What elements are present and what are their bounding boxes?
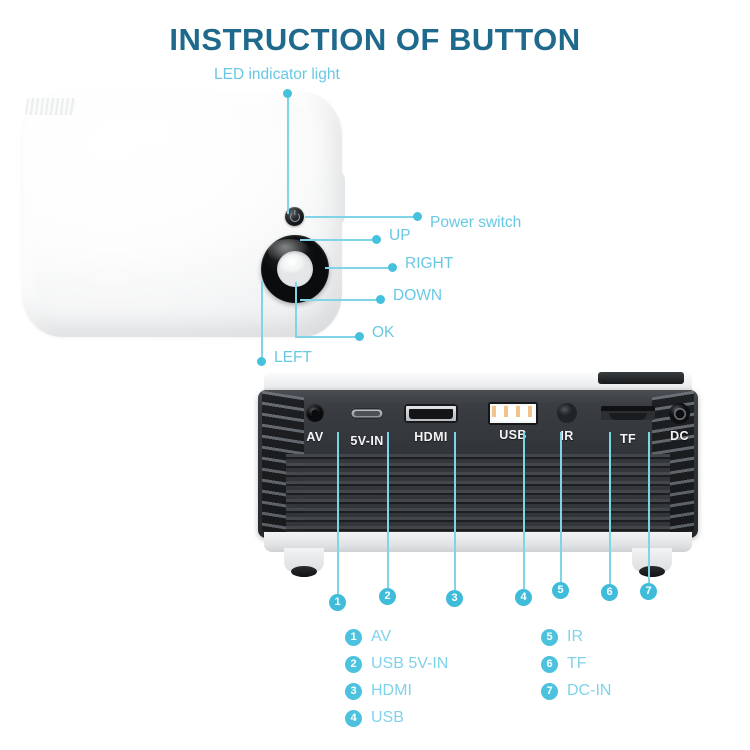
legend-label-4: USB	[371, 709, 404, 727]
hdmi-port-icon	[409, 409, 453, 419]
marker-badge-4[interactable]: 4	[515, 589, 532, 606]
callout-label-left: LEFT	[274, 349, 312, 367]
port-5v-in[interactable]: 5V-IN	[350, 408, 384, 419]
legend-item-6: 6 TF	[541, 655, 587, 673]
leader-line-marker-3	[454, 432, 456, 590]
power-symbol-icon	[290, 212, 300, 222]
callout-dot-led	[283, 89, 292, 98]
leader-line-marker-2	[387, 432, 389, 588]
dc-barrel-jack-icon	[675, 409, 684, 418]
port-label-ir: IR	[560, 429, 573, 443]
port-usb[interactable]: USB	[488, 402, 538, 425]
legend-badge-2: 2	[345, 656, 362, 673]
page-title: INSTRUCTION OF BUTTON	[0, 22, 750, 58]
legend-badge-5: 5	[541, 629, 558, 646]
legend-item-3: 3 HDMI	[345, 682, 412, 700]
marker-badge-3[interactable]: 3	[446, 590, 463, 607]
leader-line-marker-5	[560, 432, 562, 582]
back-panel-body: AV 5V-IN HDMI USB IR TF	[258, 390, 698, 538]
leader-line-ok-vertical	[295, 282, 297, 336]
callout-dot-right	[388, 263, 397, 272]
marker-badge-2[interactable]: 2	[379, 588, 396, 605]
tf-card-slot-icon	[609, 413, 647, 420]
bottom-bezel	[264, 532, 692, 552]
legend-item-2: 2 USB 5V-IN	[345, 655, 448, 673]
port-av[interactable]: AV	[306, 404, 324, 422]
legend-badge-4: 4	[345, 710, 362, 727]
callout-label-right: RIGHT	[405, 255, 453, 273]
heat-sink-slats	[286, 454, 670, 532]
micro-usb-icon	[354, 411, 380, 416]
projector-foot-right	[632, 548, 672, 572]
top-dark-strip	[598, 372, 684, 384]
callout-label-power-switch: Power switch	[430, 214, 521, 232]
legend-badge-3: 3	[345, 683, 362, 700]
marker-badge-7[interactable]: 7	[640, 583, 657, 600]
leader-line-led	[287, 97, 289, 214]
port-hdmi[interactable]: HDMI	[404, 404, 458, 423]
marker-badge-6[interactable]: 6	[601, 584, 618, 601]
port-label-5v-in: 5V-IN	[350, 434, 383, 448]
callout-label-led-indicator-light: LED indicator light	[214, 66, 340, 84]
legend-label-7: DC-IN	[567, 682, 611, 700]
legend-badge-6: 6	[541, 656, 558, 673]
port-tf[interactable]: TF	[601, 406, 655, 420]
legend-item-5: 5 IR	[541, 628, 583, 646]
callout-label-ok: OK	[372, 324, 394, 342]
legend-item-1: 1 AV	[345, 628, 391, 646]
leader-line-power-switch	[305, 216, 415, 218]
callout-dot-left	[257, 357, 266, 366]
marker-badge-1[interactable]: 1	[329, 594, 346, 611]
marker-badge-5[interactable]: 5	[552, 582, 569, 599]
projector-side-bulge	[329, 170, 345, 226]
callout-dot-up	[372, 235, 381, 244]
leader-line-marker-7	[648, 432, 650, 583]
usb-a-port-icon	[492, 406, 534, 417]
projector-foot-left	[284, 548, 324, 572]
callout-label-down: DOWN	[393, 287, 442, 305]
port-label-dc: DC	[670, 429, 689, 443]
leader-line-up	[300, 239, 374, 241]
callout-label-up: UP	[389, 227, 411, 245]
port-label-tf: TF	[620, 432, 636, 446]
projector-back-panel: AV 5V-IN HDMI USB IR TF	[258, 372, 698, 580]
legend-item-7: 7 DC-IN	[541, 682, 611, 700]
legend-label-1: AV	[371, 628, 391, 646]
leader-line-marker-4	[523, 432, 525, 589]
legend-label-2: USB 5V-IN	[371, 655, 448, 673]
port-label-hdmi: HDMI	[414, 430, 448, 444]
legend-badge-7: 7	[541, 683, 558, 700]
legend-badge-1: 1	[345, 629, 362, 646]
callout-dot-power-switch	[413, 212, 422, 221]
legend-item-4: 4 USB	[345, 709, 404, 727]
callout-dot-down	[376, 295, 385, 304]
legend-label-3: HDMI	[371, 682, 412, 700]
leader-line-down	[300, 299, 378, 301]
port-dc[interactable]: DC	[669, 403, 690, 424]
callout-dot-ok	[355, 332, 364, 341]
vent-grille-icon	[25, 98, 77, 115]
legend-label-5: IR	[567, 628, 583, 646]
leader-line-marker-6	[609, 432, 611, 584]
port-label-av: AV	[306, 430, 323, 444]
leader-line-right	[325, 267, 390, 269]
port-ir[interactable]: IR	[557, 403, 577, 423]
av-jack-icon	[312, 410, 319, 417]
legend-label-6: TF	[567, 655, 587, 673]
leader-line-left	[261, 281, 263, 361]
usb-tongue	[491, 417, 535, 421]
leader-line-marker-1	[337, 432, 339, 594]
instruction-diagram: INSTRUCTION OF BUTTON LED indicator ligh…	[0, 0, 750, 750]
leader-line-ok-horizontal	[295, 336, 361, 338]
